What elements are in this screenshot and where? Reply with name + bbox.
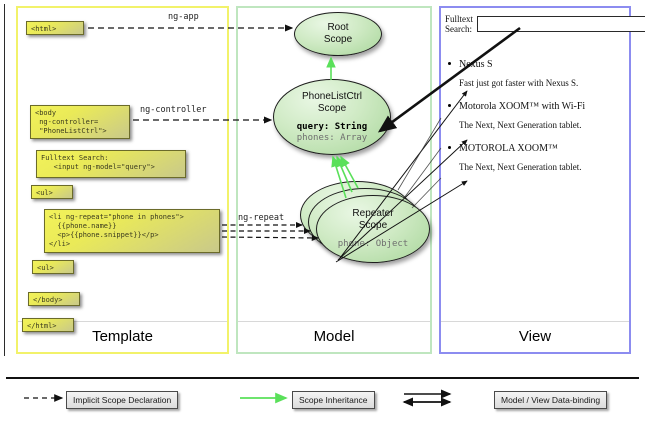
scope-root-title-2: Scope (324, 34, 352, 46)
view-phone-name: MOTOROLA XOOM™ (459, 142, 625, 155)
view-phone-item: MOTOROLA XOOM™ The Next, Next Generation… (445, 142, 625, 174)
code-box-body-close: </body> (28, 292, 80, 306)
code-box-ul-open: <ul> (31, 185, 73, 199)
legend-item-implicit-scope-declaration: Implicit Scope Declaration (66, 391, 178, 409)
view-phone-item: Motorola XOOM™ with Wi-Fi The Next, Next… (445, 100, 625, 132)
scope-phonelistctrl-title-1: PhoneListCtrl (302, 91, 362, 103)
edge-label-ng-app: ng-app (168, 12, 199, 22)
edge-label-ng-controller: ng-controller (140, 105, 207, 115)
code-box-ul-close: <ul> (32, 260, 74, 274)
view-phone-name: Nexus S (459, 58, 625, 71)
bullet-icon (448, 62, 451, 65)
view-phone-snippet: Fast just got faster with Nexus S. (459, 77, 625, 90)
diagram-canvas: Template Model View <html> <body ng-cont… (0, 0, 645, 425)
view-search-row: Fulltext Search: (445, 14, 625, 34)
code-box-fulltext-search: Fulltext Search: <input ng-model="query"… (36, 150, 186, 178)
view-search-input[interactable] (477, 16, 645, 32)
view-search-label: Fulltext Search: (445, 14, 473, 34)
code-box-li-ng-repeat: <li ng-repeat="phone in phones"> {{phone… (44, 209, 220, 253)
scope-repeater-title-2: Scope (359, 220, 387, 232)
scope-repeater-title-1: Repeater (352, 208, 393, 220)
code-box-html-open: <html> (26, 21, 84, 35)
scope-phonelistctrl-member-phones: phones: Array (297, 133, 367, 144)
scope-root: Root Scope (294, 12, 382, 56)
panel-model: Model (236, 6, 432, 354)
scope-phonelistctrl: PhoneListCtrl Scope query: String phones… (273, 79, 391, 155)
view-phone-list: Nexus S Fast just got faster with Nexus … (445, 58, 625, 174)
legend-divider (6, 377, 639, 379)
legend-item-model-view-data-binding: Model / View Data-binding (494, 391, 607, 409)
legend-item-scope-inheritance: Scope Inheritance (292, 391, 375, 409)
view-rendered-page: Fulltext Search: Nexus S Fast just got f… (445, 14, 625, 184)
view-phone-snippet: The Next, Next Generation tablet. (459, 119, 625, 132)
bullet-icon (448, 104, 451, 107)
scope-repeater: Repeater Scope phone: Object (316, 195, 430, 263)
scope-phonelistctrl-member-query: query: String (297, 122, 367, 133)
view-phone-name: Motorola XOOM™ with Wi-Fi (459, 100, 625, 113)
scope-repeater-member-phone: phone: Object (338, 239, 408, 250)
panel-view-label: View (441, 322, 629, 352)
view-phone-snippet: The Next, Next Generation tablet. (459, 161, 625, 174)
panel-model-label: Model (238, 322, 430, 352)
code-box-html-close: </html> (22, 318, 74, 332)
edge-label-ng-repeat: ng-repeat (238, 213, 284, 223)
scope-phonelistctrl-title-2: Scope (318, 103, 346, 115)
code-box-body-open: <body ng-controller= "PhoneListCtrl"> (30, 105, 130, 139)
view-phone-item: Nexus S Fast just got faster with Nexus … (445, 58, 625, 90)
outer-frame-left-rule (4, 4, 5, 356)
scope-root-title-1: Root (327, 22, 348, 34)
bullet-icon (448, 146, 451, 149)
